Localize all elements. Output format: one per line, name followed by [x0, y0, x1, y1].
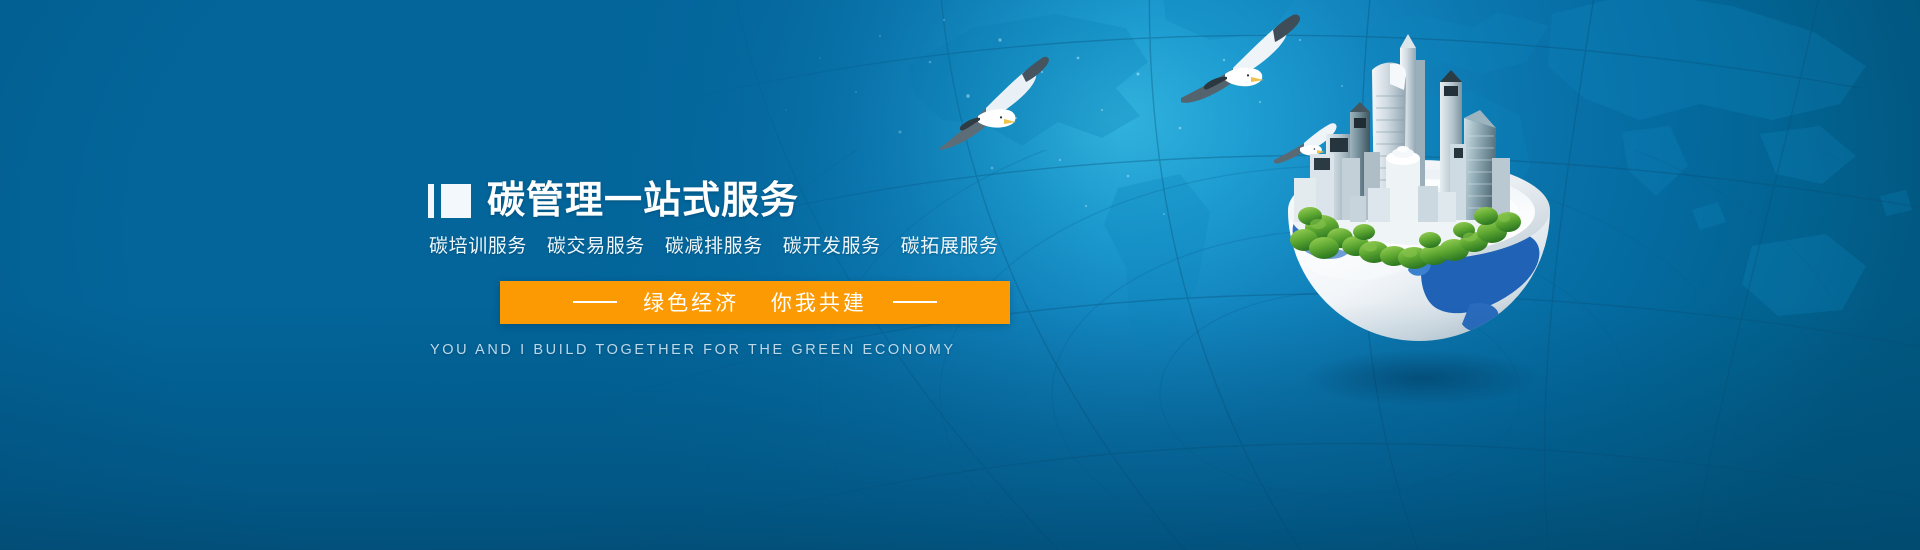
service-list: 碳培训服务 碳交易服务 碳减排服务 碳开发服务 碳拓展服务: [429, 236, 1068, 259]
slogan-banner: 绿色经济 你我共建: [500, 281, 1010, 324]
slogan-text-right: 你我共建: [771, 292, 867, 315]
service-item-3[interactable]: 碳减排服务: [665, 236, 763, 257]
dash-rule-right-icon: [893, 301, 937, 303]
service-item-4[interactable]: 碳开发服务: [783, 236, 881, 257]
page-title: 碳管理一站式服务: [487, 182, 799, 220]
headline-row: 碳管理一站式服务: [428, 178, 1068, 224]
dash-rule-left-icon: [573, 301, 617, 303]
bar-square-marker-icon: [428, 184, 471, 218]
service-item-2[interactable]: 碳交易服务: [547, 236, 645, 257]
slogan-text: 绿色经济 你我共建: [643, 287, 867, 317]
slogan-text-left: 绿色经济: [643, 292, 739, 315]
hero-copy: 碳管理一站式服务 碳培训服务 碳交易服务 碳减排服务 碳开发服务 碳拓展服务 绿…: [428, 178, 1068, 358]
hero-banner: 碳管理一站式服务 碳培训服务 碳交易服务 碳减排服务 碳开发服务 碳拓展服务 绿…: [0, 0, 1920, 550]
marker-bar: [428, 184, 434, 218]
service-item-1[interactable]: 碳培训服务: [429, 236, 527, 257]
english-tagline: YOU AND I BUILD TOGETHER FOR THE GREEN E…: [430, 342, 1068, 358]
marker-square: [441, 184, 471, 218]
service-item-5[interactable]: 碳拓展服务: [901, 236, 999, 257]
